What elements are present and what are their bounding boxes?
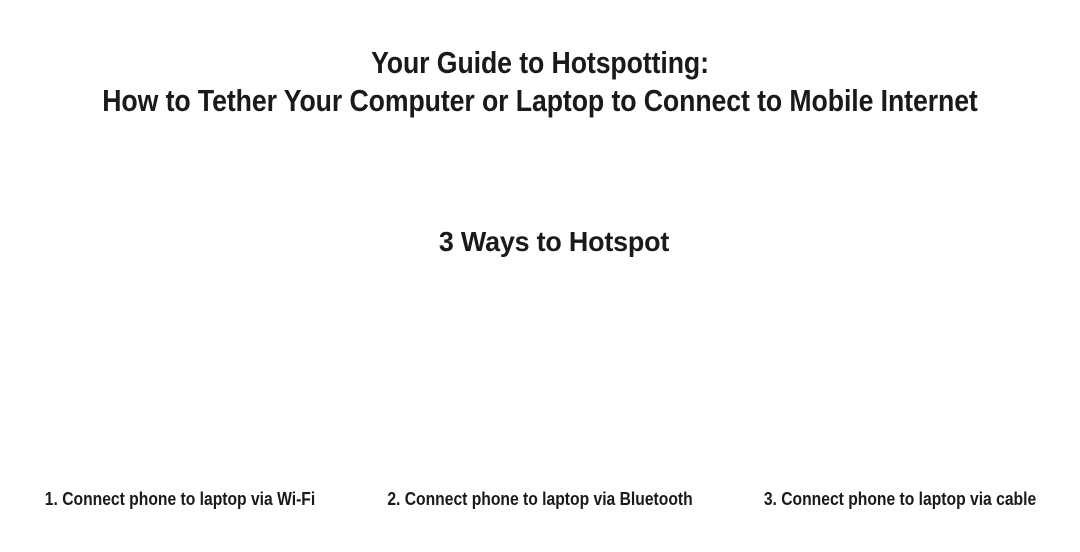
step-3-caption: 3. Connect phone to laptop via cable	[743, 487, 1056, 511]
section-heading: 3 Ways to Hotspot	[22, 224, 1080, 260]
steps-caption-row: 1. Connect phone to laptop via Wi-Fi 2. …	[0, 487, 1080, 511]
page-title: Your Guide to Hotspotting: How to Tether…	[0, 44, 1080, 120]
page-title-line-2: How to Tether Your Computer or Laptop to…	[76, 82, 1005, 120]
page-title-line-1: Your Guide to Hotspotting:	[76, 44, 1005, 82]
infographic-canvas: Your Guide to Hotspotting: How to Tether…	[0, 0, 1080, 552]
step-2-caption: 2. Connect phone to laptop via Bluetooth	[383, 487, 696, 511]
step-2-illustration	[360, 282, 720, 480]
step-3-illustration	[720, 282, 1080, 480]
steps-illustration-row	[0, 282, 1080, 480]
step-1-caption: 1. Connect phone to laptop via Wi-Fi	[23, 487, 336, 511]
step-1-illustration	[0, 282, 360, 480]
